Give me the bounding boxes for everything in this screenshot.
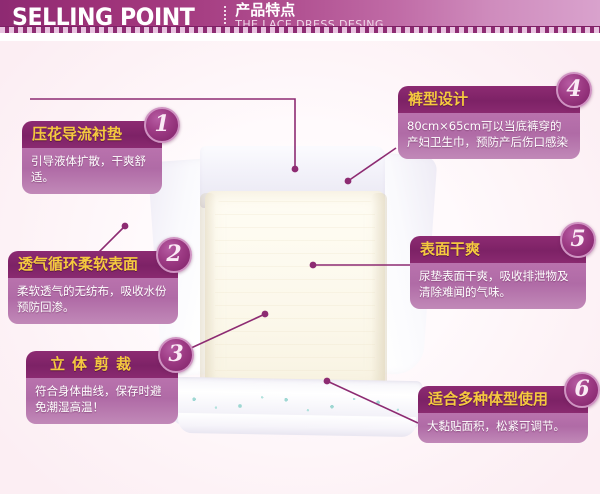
feature-callout-1[interactable]: 压花导流衬垫 引导液体扩散，干爽舒适。 1 [22, 121, 162, 194]
feature-1-title: 压花导流衬垫 [32, 126, 152, 142]
feature-2-body: 柔软透气的无纺布，吸收水份预防回渗。 [8, 278, 178, 324]
feature-3-number-badge: 3 [158, 337, 194, 373]
page-header-banner: SELLING POINT 产品特点 THE LACE DRESS DESING [0, 0, 600, 33]
feature-callout-6[interactable]: 适合多种体型使用 大黏贴面积，松紧可调节。 6 [418, 386, 588, 443]
feature-1-body: 引导液体扩散，干爽舒适。 [22, 148, 162, 194]
product-core-edge-left [200, 193, 216, 389]
feature-6-header: 适合多种体型使用 [418, 386, 588, 413]
feature-3-desc: 符合身体曲线，保存时避免潮湿高温！ [35, 384, 169, 416]
feature-5-body: 尿垫表面干爽，吸收排泄物及清除难闻的气味。 [410, 263, 586, 309]
product-core-ribbing [215, 201, 375, 381]
feature-callout-3[interactable]: 立体剪裁 符合身体曲线，保存时避免潮湿高温！ 3 [26, 351, 178, 424]
feature-3-body: 符合身体曲线，保存时避免潮湿高温！ [26, 378, 178, 424]
feature-6-body: 大黏贴面积，松紧可调节。 [418, 413, 588, 443]
feature-1-number-badge: 1 [144, 107, 180, 143]
feature-callout-4[interactable]: 裤型设计 80cm×65cm可以当底裤穿的产妇卫生巾，预防产后伤口感染 4 [398, 86, 580, 159]
feature-2-number-badge: 2 [156, 237, 192, 273]
header-title-cn: 产品特点 [235, 3, 384, 18]
feature-5-desc: 尿垫表面干爽，吸收排泄物及清除难闻的气味。 [419, 269, 577, 301]
feature-6-title: 适合多种体型使用 [428, 391, 578, 407]
feature-4-title: 裤型设计 [408, 91, 570, 107]
feature-2-desc: 柔软透气的无纺布，吸收水份预防回渗。 [17, 284, 169, 316]
feature-callout-2[interactable]: 透气循环柔软表面 柔软透气的无纺布，吸收水份预防回渗。 2 [8, 251, 178, 324]
feature-3-title: 立体剪裁 [36, 356, 168, 372]
feature-4-number: 4 [566, 78, 581, 100]
feature-5-title: 表面干爽 [420, 241, 576, 257]
feature-6-desc: 大黏贴面积，松紧可调节。 [427, 419, 579, 435]
feature-6-number: 6 [574, 378, 589, 400]
feature-3-number: 3 [168, 343, 183, 365]
feature-4-body: 80cm×65cm可以当底裤穿的产妇卫生巾，预防产后伤口感染 [398, 113, 580, 159]
feature-2-number: 2 [166, 243, 181, 265]
header-dashed-strip [0, 26, 600, 33]
feature-1-desc: 引导液体扩散，干爽舒适。 [31, 154, 153, 186]
feature-2-title: 透气循环柔软表面 [18, 256, 168, 272]
feature-3-header: 立体剪裁 [26, 351, 178, 378]
feature-4-number-badge: 4 [556, 72, 592, 108]
feature-5-number: 5 [570, 228, 585, 250]
feature-4-header: 裤型设计 [398, 86, 580, 113]
feature-6-number-badge: 6 [564, 372, 600, 408]
feature-2-header: 透气循环柔软表面 [8, 251, 178, 278]
feature-5-number-badge: 5 [560, 222, 596, 258]
content-panel: 压花导流衬垫 引导液体扩散，干爽舒适。 1 透气循环柔软表面 柔软透气的无纺布，… [0, 41, 600, 494]
product-core-edge-right [371, 193, 387, 389]
header-dotted-divider-icon [224, 6, 226, 28]
product-feature-infographic: SELLING POINT 产品特点 THE LACE DRESS DESING [0, 0, 600, 494]
header-brand-en: SELLING POINT [12, 5, 194, 29]
product-waistband-lower [178, 413, 416, 437]
feature-1-header: 压花导流衬垫 [22, 121, 162, 148]
feature-1-number: 1 [154, 113, 169, 135]
feature-4-desc: 80cm×65cm可以当底裤穿的产妇卫生巾，预防产后伤口感染 [407, 119, 571, 151]
feature-callout-5[interactable]: 表面干爽 尿垫表面干爽，吸收排泄物及清除难闻的气味。 5 [410, 236, 586, 309]
